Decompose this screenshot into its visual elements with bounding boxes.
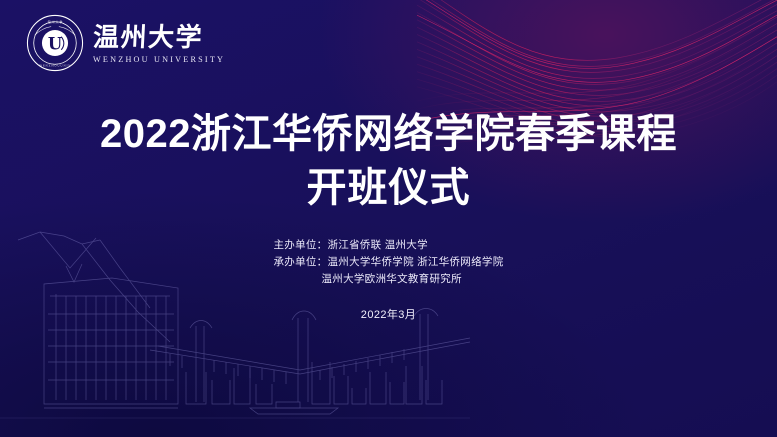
- svg-text:W E N Z H O U U N I V.: W E N Z H O U U N I V.: [39, 64, 71, 68]
- page-title-line1: 2022浙江华侨网络学院春季课程: [0, 107, 777, 161]
- wenzhou-university-seal-icon: U 温 州 大 学 W E N Z H O U U N I V.: [26, 14, 84, 72]
- organizer-block: 主办单位：浙江省侨联 温州大学 承办单位：温州大学华侨学院 浙江华侨网络学院 温…: [273, 237, 503, 288]
- organizer-line: 温州大学欧洲华文教育研究所: [273, 271, 503, 288]
- svg-text:温 州 大 学: 温 州 大 学: [48, 19, 63, 24]
- event-date: 2022年3月: [0, 306, 777, 322]
- organizer-line: 主办单位：浙江省侨联 温州大学: [273, 237, 503, 254]
- poster-slide: U 温 州 大 学 W E N Z H O U U N I V. 温州大学 WE…: [0, 0, 777, 437]
- logo-name-en: WENZHOU UNIVERSITY: [93, 55, 225, 64]
- logo-name-cn: 温州大学: [92, 24, 203, 52]
- poster-content: 2022浙江华侨网络学院春季课程 开班仪式 主办单位：浙江省侨联 温州大学 承办…: [0, 107, 777, 322]
- organizer-line: 承办单位：温州大学华侨学院 浙江华侨网络学院: [273, 254, 503, 271]
- university-logo: U 温 州 大 学 W E N Z H O U U N I V. 温州大学 WE…: [26, 14, 225, 72]
- logo-wordmark: 温州大学 WENZHOU UNIVERSITY: [93, 22, 225, 64]
- page-title-line2: 开班仪式: [0, 161, 777, 215]
- svg-text:U: U: [48, 34, 62, 53]
